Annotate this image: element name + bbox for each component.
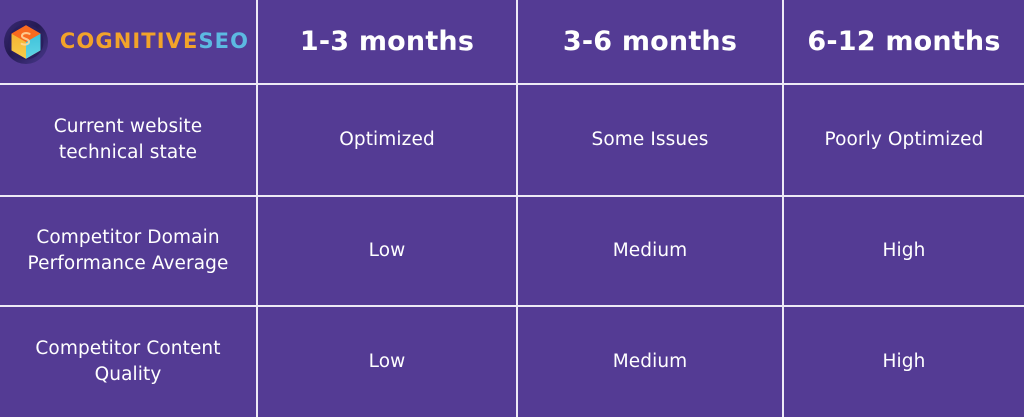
row-header-line-2: technical state bbox=[59, 142, 197, 163]
table-cell-r2c3: High bbox=[784, 197, 1024, 307]
table-cell-r1c2: Some Issues bbox=[518, 85, 784, 197]
table-cell-r1c1: Optimized bbox=[258, 85, 518, 197]
brand-word-primary: COGNITIVE bbox=[60, 29, 199, 53]
column-header-6-12-months: 6-12 months bbox=[784, 0, 1024, 85]
table-cell-r2c1: Low bbox=[258, 197, 518, 307]
column-header-1-3-months: 1-3 months bbox=[258, 0, 518, 85]
row-header-line-1: Competitor Domain bbox=[36, 227, 219, 248]
brand-word-secondary: SEO bbox=[198, 29, 249, 53]
column-header-3-6-months: 3-6 months bbox=[518, 0, 784, 85]
row-header-line-1: Current website bbox=[54, 116, 203, 137]
table-cell-r3c1: Low bbox=[258, 307, 518, 417]
table-cell-r3c3: High bbox=[784, 307, 1024, 417]
brand-wordmark: COGNITIVESEO bbox=[60, 31, 249, 52]
row-header-line-1: Competitor Content bbox=[35, 338, 220, 359]
row-header-competitor-content-quality: Competitor Content Quality bbox=[0, 307, 258, 417]
row-header-line-2: Performance Average bbox=[28, 253, 229, 274]
row-header-line-2: Quality bbox=[95, 364, 162, 385]
table-cell-r2c2: Medium bbox=[518, 197, 784, 307]
brand-logo-cell: COGNITIVESEO bbox=[0, 0, 258, 85]
row-header-competitor-domain-performance-average: Competitor Domain Performance Average bbox=[0, 197, 258, 307]
seo-timeline-comparison-table: COGNITIVESEO 1-3 months 3-6 months 6-12 … bbox=[0, 0, 1024, 417]
table-cell-r1c3: Poorly Optimized bbox=[784, 85, 1024, 197]
row-header-current-website-technical-state: Current website technical state bbox=[0, 85, 258, 197]
table-cell-r3c2: Medium bbox=[518, 307, 784, 417]
hexagon-cube-icon bbox=[3, 19, 49, 65]
